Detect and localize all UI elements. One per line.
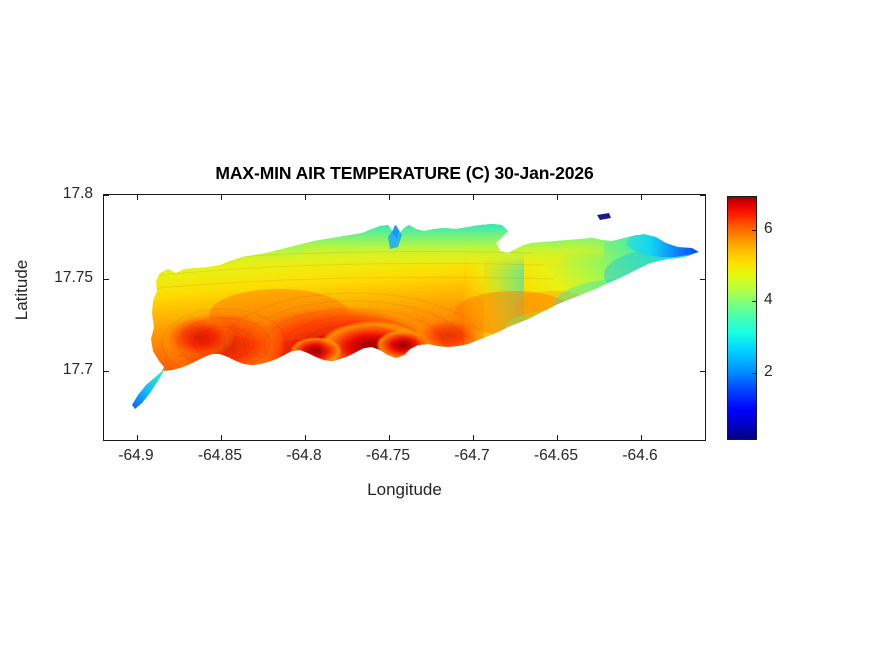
x-tick-bottom-6 [557,435,558,441]
colorbar-label-4: 4 [764,291,773,309]
y-tick-left-3 [103,371,109,372]
colorbar-tick-4 [752,301,757,302]
x-tick-label-2: -64.85 [198,447,242,465]
y-tick-left-2 [103,279,109,280]
y-tick-left-1 [103,195,109,196]
y-tick-right-3 [700,371,706,372]
x-tick-bottom-3 [305,435,306,441]
y-axis-title: Latitude [12,230,32,350]
chart-title: MAX-MIN AIR TEMPERATURE (C) 30-Jan-2026 [103,163,706,184]
x-tick-top-3 [305,194,306,200]
x-tick-label-4: -64.75 [366,447,410,465]
colorbar-tick-6 [752,230,757,231]
temperature-field [104,195,706,441]
x-tick-bottom-1 [137,435,138,441]
y-tick-label-3: 17.8 [23,185,93,203]
y-tick-right-1 [700,195,706,196]
x-tick-top-1 [137,194,138,200]
colorbar-tick-2 [752,373,757,374]
x-tick-top-2 [221,194,222,200]
x-tick-label-6: -64.65 [534,447,578,465]
x-tick-label-1: -64.9 [118,447,153,465]
x-tick-bottom-2 [221,435,222,441]
colorbar [727,196,757,440]
x-tick-top-4 [389,194,390,200]
y-tick-label-2: 17.75 [23,269,93,287]
x-tick-top-5 [473,194,474,200]
island-temperature-surface [104,195,706,441]
x-tick-top-7 [641,194,642,200]
x-tick-top-6 [557,194,558,200]
matlab-figure: MAX-MIN AIR TEMPERATURE (C) 30-Jan-2026 [0,0,875,656]
x-tick-label-5: -64.7 [454,447,489,465]
colorbar-gradient [728,197,756,439]
y-tick-label-1: 17.7 [23,361,93,379]
x-tick-label-3: -64.8 [286,447,321,465]
map-axes [103,194,706,441]
colorbar-label-6: 6 [764,220,773,238]
x-tick-bottom-4 [389,435,390,441]
buck-island-patch [597,213,611,220]
x-axis-title: Longitude [103,480,706,500]
x-tick-label-7: -64.6 [622,447,657,465]
x-tick-bottom-7 [641,435,642,441]
colorbar-label-2: 2 [764,363,773,381]
x-tick-bottom-5 [473,435,474,441]
y-tick-right-2 [700,279,706,280]
